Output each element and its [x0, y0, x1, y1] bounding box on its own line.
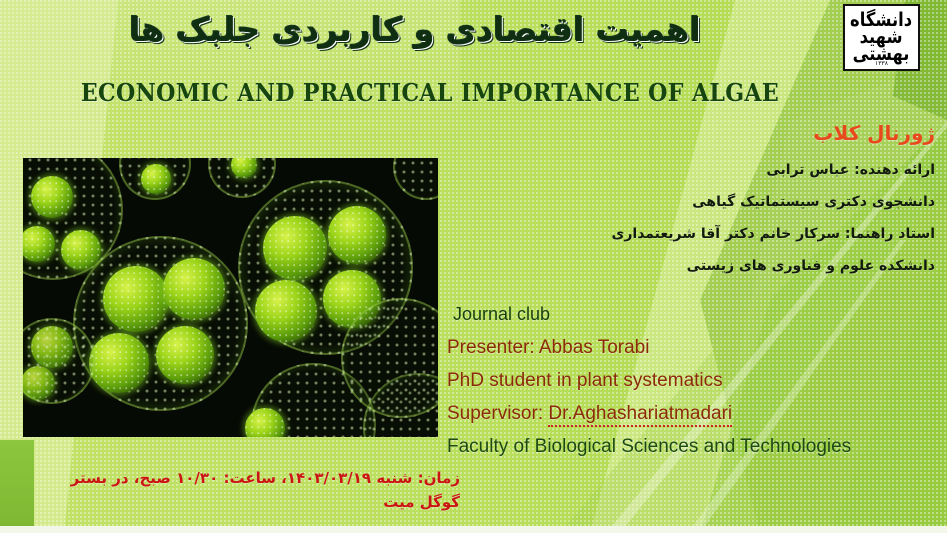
bottom-white-strip	[0, 526, 947, 533]
presenter-line-persian: ارائه دهنده: عباس ترابی	[455, 154, 935, 186]
left-accent-bar	[0, 440, 34, 526]
micrograph-content	[23, 158, 438, 437]
daughter-cell	[31, 176, 73, 218]
university-logo: دانشگاه شهید بهشتی ۱۳۳۸	[843, 4, 920, 71]
daughter-cell	[263, 216, 327, 280]
daughter-cell	[156, 326, 214, 384]
daughter-cell	[89, 333, 149, 393]
logo-founding-year: ۱۳۳۸	[845, 60, 918, 67]
logo-calligraphy: دانشگاه شهید بهشتی	[850, 12, 912, 63]
supervisor-name: Dr.Aghashariatmadari	[548, 403, 732, 427]
slide-title-english: ECONOMIC AND PRACTICAL IMPORTANCE OF ALG…	[34, 78, 825, 108]
presenter-line-english: Presenter: Abbas Torabi	[447, 331, 917, 364]
schedule-line-persian: زمان: شنبه ۱۴۰۳/۰۳/۱۹، ساعت: ۱۰/۳۰ صبح، …	[40, 466, 460, 514]
daughter-cell	[255, 280, 317, 342]
supervisor-line-persian: استاد راهنما: سرکار خانم دکتر آقا شریعتم…	[455, 218, 935, 250]
faculty-line-persian: دانشکده علوم و فناوری های زیستی	[455, 250, 935, 282]
algae-micrograph-image	[23, 158, 438, 437]
supervisor-label: Supervisor:	[447, 403, 548, 424]
daughter-cell	[328, 206, 386, 264]
volvox-colony	[393, 158, 438, 200]
slide-title-persian: اهمیت اقتصادی و کاربردی جلبک ها	[0, 8, 830, 52]
program-line-english: PhD student in plant systematics	[447, 364, 917, 397]
daughter-cell	[61, 230, 101, 270]
faculty-line-english: Faculty of Biological Sciences and Techn…	[447, 430, 917, 463]
presentation-title-slide: دانشگاه شهید بهشتی ۱۳۳۸ اهمیت اقتصادی و …	[0, 0, 947, 533]
program-line-persian: دانشجوی دکتری سیستماتیک گیاهی	[455, 186, 935, 218]
english-info-block: Journal club Presenter: Abbas Torabi PhD…	[447, 298, 917, 463]
daughter-cell	[141, 164, 171, 194]
journal-club-heading-persian: ژورنال کلاب	[455, 118, 935, 148]
daughter-cell	[163, 258, 225, 320]
persian-info-block: ژورنال کلاب ارائه دهنده: عباس ترابی دانش…	[455, 118, 935, 282]
journal-club-heading-english: Journal club	[447, 298, 917, 331]
supervisor-line-english: Supervisor: Dr.Aghashariatmadari	[447, 397, 917, 430]
daughter-cell	[103, 266, 169, 332]
